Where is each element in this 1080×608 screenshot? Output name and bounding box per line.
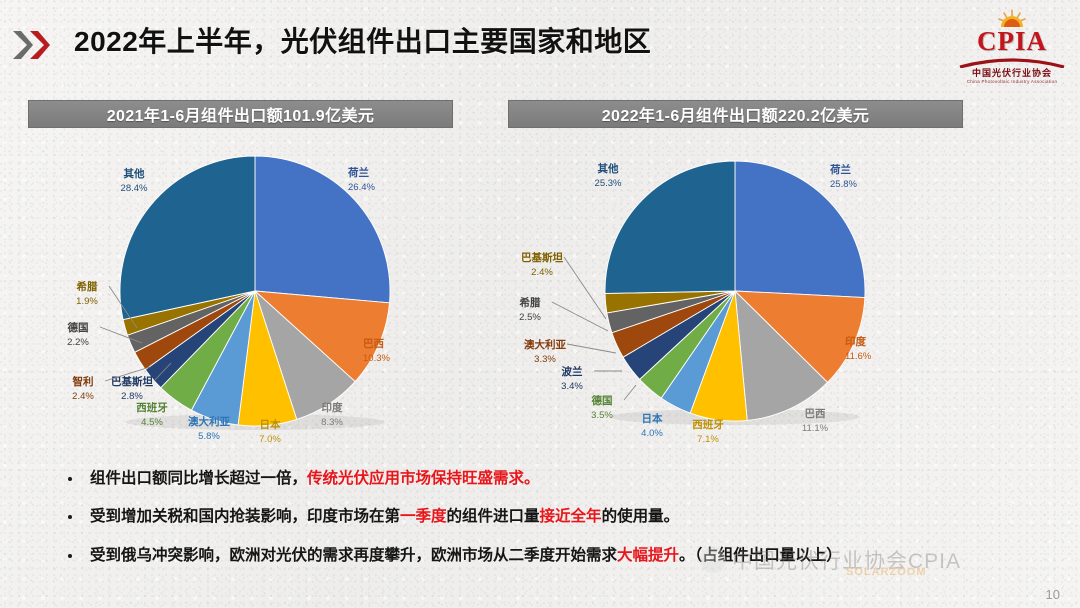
bullet-plain-run: 。（占组件出口量以上）: [679, 547, 842, 564]
pie-slice-value: 7.0%: [259, 434, 281, 445]
pie-slice-label: 日本: [642, 412, 663, 425]
pie-slice-label: 希腊: [519, 296, 541, 309]
bullet-text: 组件出口额同比增长超过一倍，传统光伏应用市场保持旺盛需求。: [90, 468, 1052, 490]
pie-slice-value: 3.3%: [534, 354, 556, 365]
pie-slice-value: 3.4%: [561, 381, 583, 392]
pie-slice-value: 25.8%: [830, 179, 857, 190]
bullet-dot-icon: [68, 515, 72, 519]
pie-chart-2021-svg: 荷兰26.4%巴西10.3%印度8.3%日本7.0%澳大利亚5.8%西班牙4.5…: [0, 145, 500, 455]
pie-chart-2021: 荷兰26.4%巴西10.3%印度8.3%日本7.0%澳大利亚5.8%西班牙4.5…: [0, 145, 500, 455]
bullet-highlight-run: 一季度: [400, 508, 447, 525]
pie-slice-label: 印度: [845, 335, 866, 348]
bullet-highlight-run: 传统光伏应用市场保持旺盛需求。: [307, 470, 540, 487]
bullet-highlight-run: 大幅提升: [617, 547, 679, 564]
pie-slice-value: 2.2%: [67, 337, 89, 348]
pie-slice-label: 其他: [598, 162, 619, 175]
pie-slice-value: 4.0%: [641, 428, 663, 439]
pie-slice-label: 波兰: [562, 365, 583, 378]
pie-slice-value: 2.4%: [531, 267, 553, 278]
pie-slice-label: 印度: [322, 401, 343, 414]
chart-header-2021: 2021年1-6月组件出口额101.9亿美元: [28, 100, 453, 128]
pie-slice-value: 10.3%: [363, 353, 390, 364]
pie-slice-label: 荷兰: [829, 163, 851, 176]
pie-slice-label: 巴西: [363, 338, 384, 350]
bullet-item: 受到俄乌冲突影响，欧洲对光伏的需求再度攀升，欧洲市场从二季度开始需求大幅提升。（…: [62, 545, 1052, 567]
pie-slice-label: 澳大利亚: [188, 415, 230, 428]
bullet-list: 组件出口额同比增长超过一倍，传统光伏应用市场保持旺盛需求。受到增加关税和国内抢装…: [62, 468, 1052, 583]
cpia-english-name: China Photovoltaic Industry Association: [956, 79, 1068, 84]
bullet-text: 受到增加关税和国内抢装影响，印度市场在第一季度的组件进口量接近全年的使用量。: [90, 506, 1052, 528]
pie-slice-value: 11.6%: [845, 351, 872, 362]
pie-slice-label: 荷兰: [347, 166, 369, 179]
bullet-plain-run: 受到俄乌冲突影响，欧洲对光伏的需求再度攀升，欧洲市场从二季度开始需求: [90, 547, 617, 564]
leader-line: [567, 344, 616, 353]
bullet-dot-icon: [68, 554, 72, 558]
bullet-item: 受到增加关税和国内抢装影响，印度市场在第一季度的组件进口量接近全年的使用量。: [62, 506, 1052, 528]
bullet-plain-run: 的使用量。: [602, 508, 680, 525]
chart-header-2022-label: 2022年1-6月组件出口额220.2亿美元: [602, 102, 870, 126]
pie-slice-label: 德国: [67, 321, 89, 334]
pie-slice-value: 5.8%: [198, 431, 220, 442]
page-title: 2022年上半年，光伏组件出口主要国家和地区: [74, 20, 651, 60]
pie-chart-2022: 荷兰25.8%印度11.6%巴西11.1%西班牙7.1%日本4.0%德国3.5%…: [490, 145, 1010, 455]
pie-slice-value: 2.8%: [121, 391, 143, 402]
logo-arc: [956, 55, 1068, 66]
pie-slice-label: 巴基斯坦: [521, 251, 563, 264]
slide-canvas: 2022年上半年，光伏组件出口主要国家和地区 CPIA 中国光伏行业协会 Chi…: [0, 0, 1080, 608]
sun-icon: [956, 8, 1068, 28]
pie-slice-label: 巴西: [805, 408, 826, 420]
pie-slice-label: 希腊: [76, 280, 98, 293]
slide-title-row: 2022年上半年，光伏组件出口主要国家和地区: [0, 12, 1080, 72]
pie-slice: [120, 156, 255, 320]
page-number: 10: [1046, 587, 1060, 602]
leader-line: [564, 257, 606, 319]
pie-slice-value: 11.1%: [802, 423, 829, 434]
bullet-text: 受到俄乌冲突影响，欧洲对光伏的需求再度攀升，欧洲市场从二季度开始需求大幅提升。（…: [90, 545, 1052, 567]
pie-slice-value: 4.5%: [141, 417, 163, 428]
cpia-wordmark: CPIA: [956, 28, 1068, 55]
leader-line: [552, 302, 608, 331]
chart-header-2021-label: 2021年1-6月组件出口额101.9亿美元: [107, 102, 375, 126]
pie-slice-value: 2.5%: [519, 312, 541, 323]
bullet-dot-icon: [68, 477, 72, 481]
leader-line: [624, 385, 636, 400]
pie-slice-label: 智利: [72, 375, 94, 388]
title-chevrons: [12, 30, 68, 60]
pie-slice-value: 25.3%: [595, 178, 622, 189]
chevron-right-red-icon: [29, 30, 51, 60]
bullet-plain-run: 受到增加关税和国内抢装影响，印度市场在第: [90, 508, 400, 525]
pie-slice: [605, 161, 735, 293]
pie-slice-value: 7.1%: [697, 434, 719, 445]
pie-slice-label: 西班牙: [692, 418, 724, 431]
pie-slice-value: 8.3%: [321, 417, 343, 428]
chart-header-2022: 2022年1-6月组件出口额220.2亿美元: [508, 100, 963, 128]
pie-slice-value: 28.4%: [121, 183, 148, 194]
pie-slice-label: 其他: [124, 167, 145, 180]
pie-slice-label: 澳大利亚: [524, 338, 566, 351]
bullet-plain-run: 的组件进口量: [447, 508, 540, 525]
pie-slice-label: 德国: [591, 394, 613, 407]
pie-slice-label: 日本: [260, 418, 281, 431]
bullet-highlight-run: 接近全年: [540, 508, 602, 525]
bullet-item: 组件出口额同比增长超过一倍，传统光伏应用市场保持旺盛需求。: [62, 468, 1052, 490]
pie-slice: [255, 156, 390, 303]
pie-slice-value: 26.4%: [348, 182, 375, 193]
pie-chart-2022-svg: 荷兰25.8%印度11.6%巴西11.1%西班牙7.1%日本4.0%德国3.5%…: [490, 145, 1010, 455]
pie-slice-value: 1.9%: [76, 296, 98, 307]
pie-slice-value: 2.4%: [72, 391, 94, 402]
pie-slice-value: 3.5%: [591, 410, 613, 421]
cpia-logo: CPIA 中国光伏行业协会 China Photovoltaic Industr…: [956, 8, 1068, 92]
bullet-plain-run: 组件出口额同比增长超过一倍，: [90, 470, 307, 487]
pie-slice-label: 西班牙: [136, 401, 168, 414]
